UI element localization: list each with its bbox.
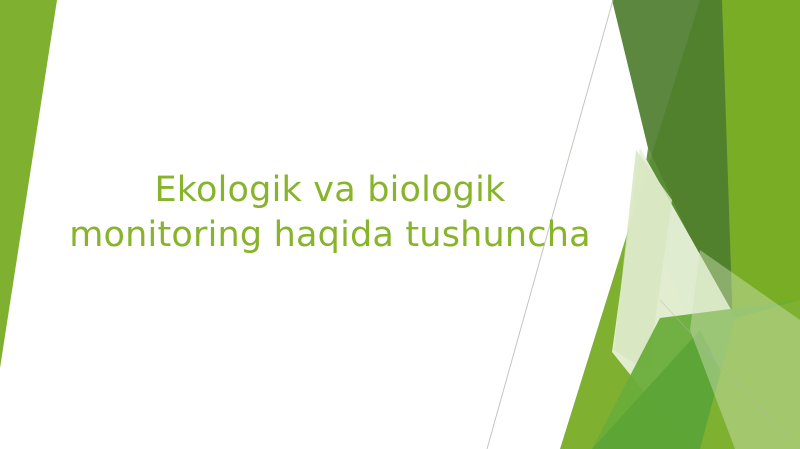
slide-decoration [0,0,800,449]
presentation-slide: Ekologik va biologik monitoring haqida t… [0,0,800,449]
left-wedge-shape [0,0,57,368]
